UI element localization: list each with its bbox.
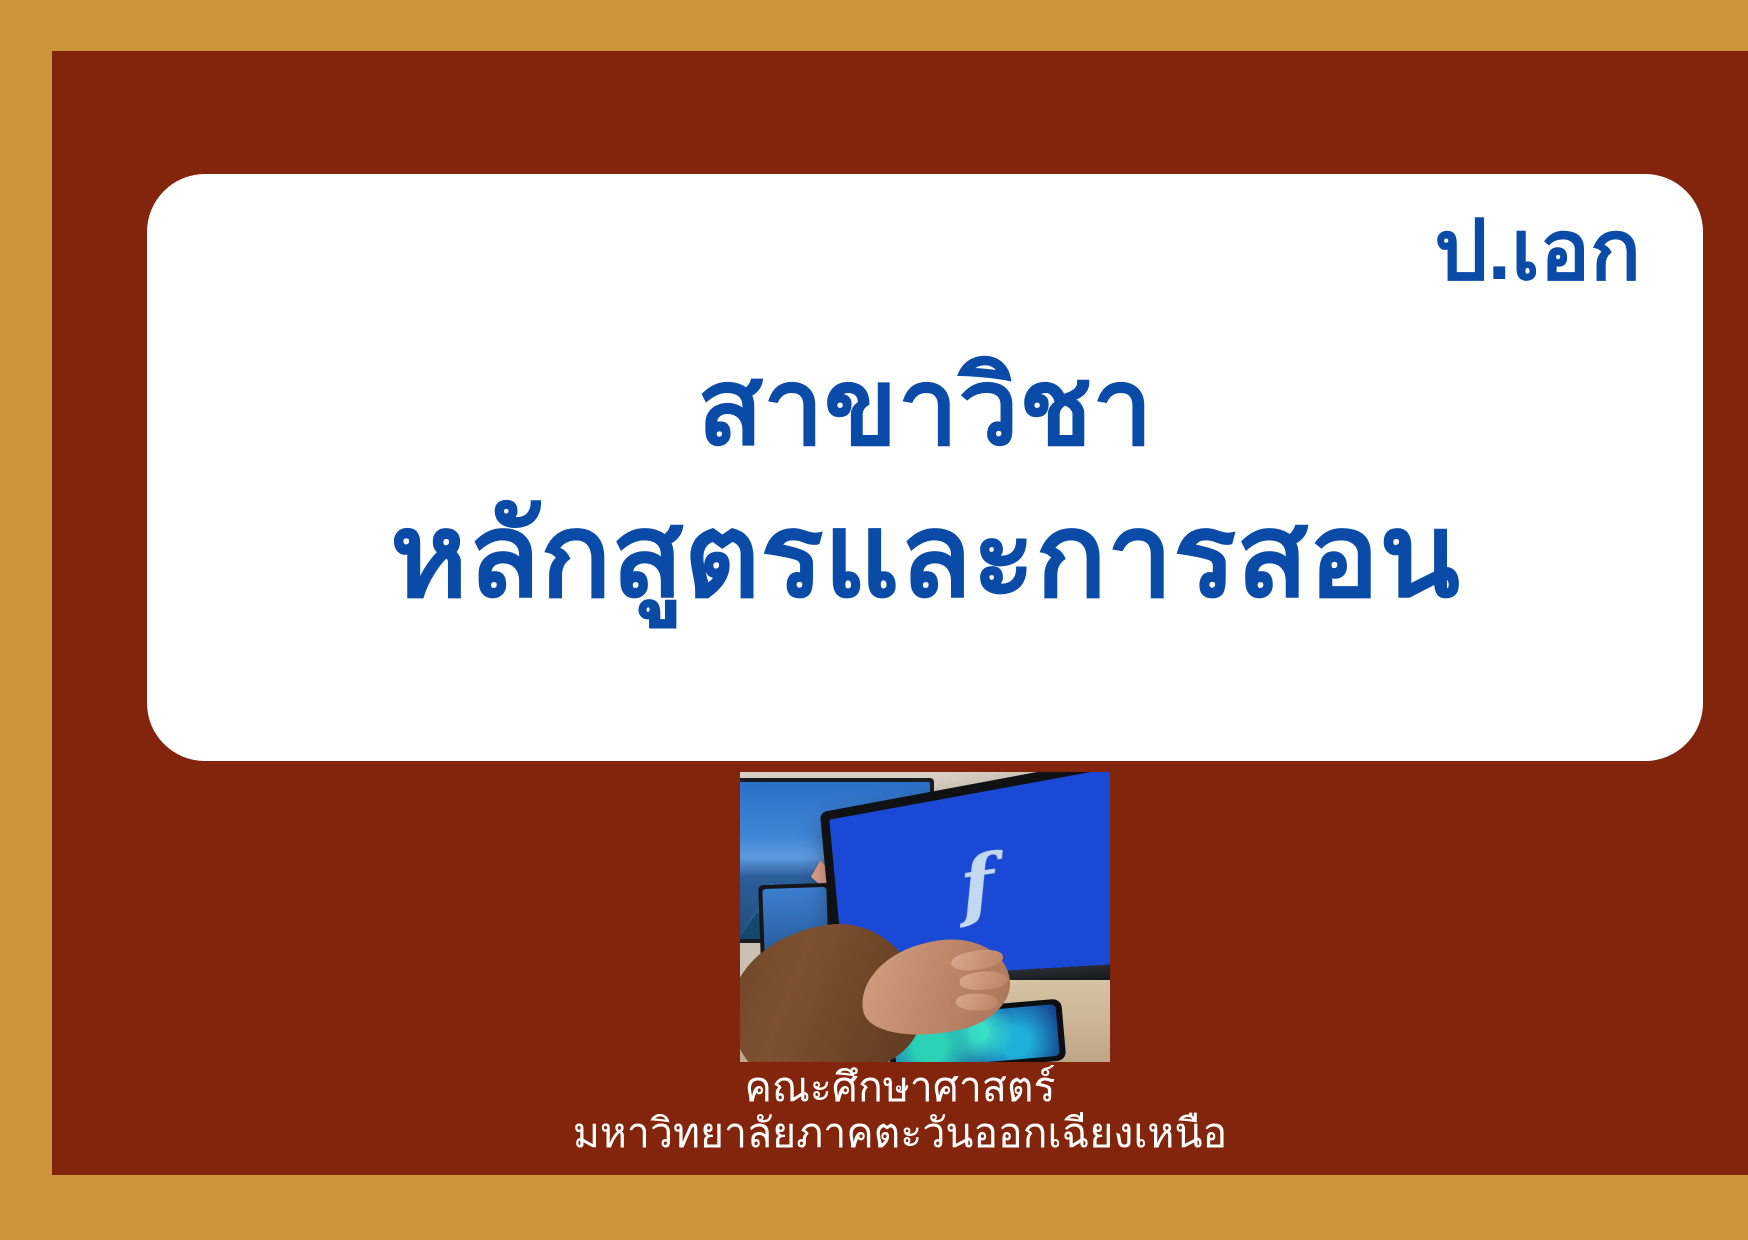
faculty-name: คณะศึกษาศาสตร์ [52, 1065, 1748, 1111]
degree-level-badge: ป.เอก [1434, 206, 1641, 294]
photo-canvas: f [740, 772, 1110, 1062]
faculty-caption: คณะศึกษาศาสตร์ มหาวิทยาลัยภาคตะวันออกเฉี… [52, 1065, 1748, 1157]
slide-root: ป.เอก สาขาวิชา หลักสูตรและการสอน [0, 0, 1748, 1240]
laptop-facebook-image: f [740, 772, 1110, 1062]
page-title-line-1: สาขาวิชา [187, 336, 1663, 479]
photo-finger-1 [950, 947, 1004, 973]
university-name: มหาวิทยาลัยภาคตะวันออกเฉียงเหนือ [52, 1111, 1748, 1157]
facebook-logo-icon: f [957, 844, 998, 925]
title-card: ป.เอก สาขาวิชา หลักสูตรและการสอน [147, 174, 1703, 761]
slide-panel: ป.เอก สาขาวิชา หลักสูตรและการสอน [52, 51, 1748, 1175]
photo-finger-3 [956, 993, 998, 1011]
page-title: สาขาวิชา หลักสูตรและการสอน [147, 336, 1703, 634]
photo-finger-2 [959, 970, 1008, 991]
page-title-line-2: หลักสูตรและการสอน [187, 479, 1663, 635]
